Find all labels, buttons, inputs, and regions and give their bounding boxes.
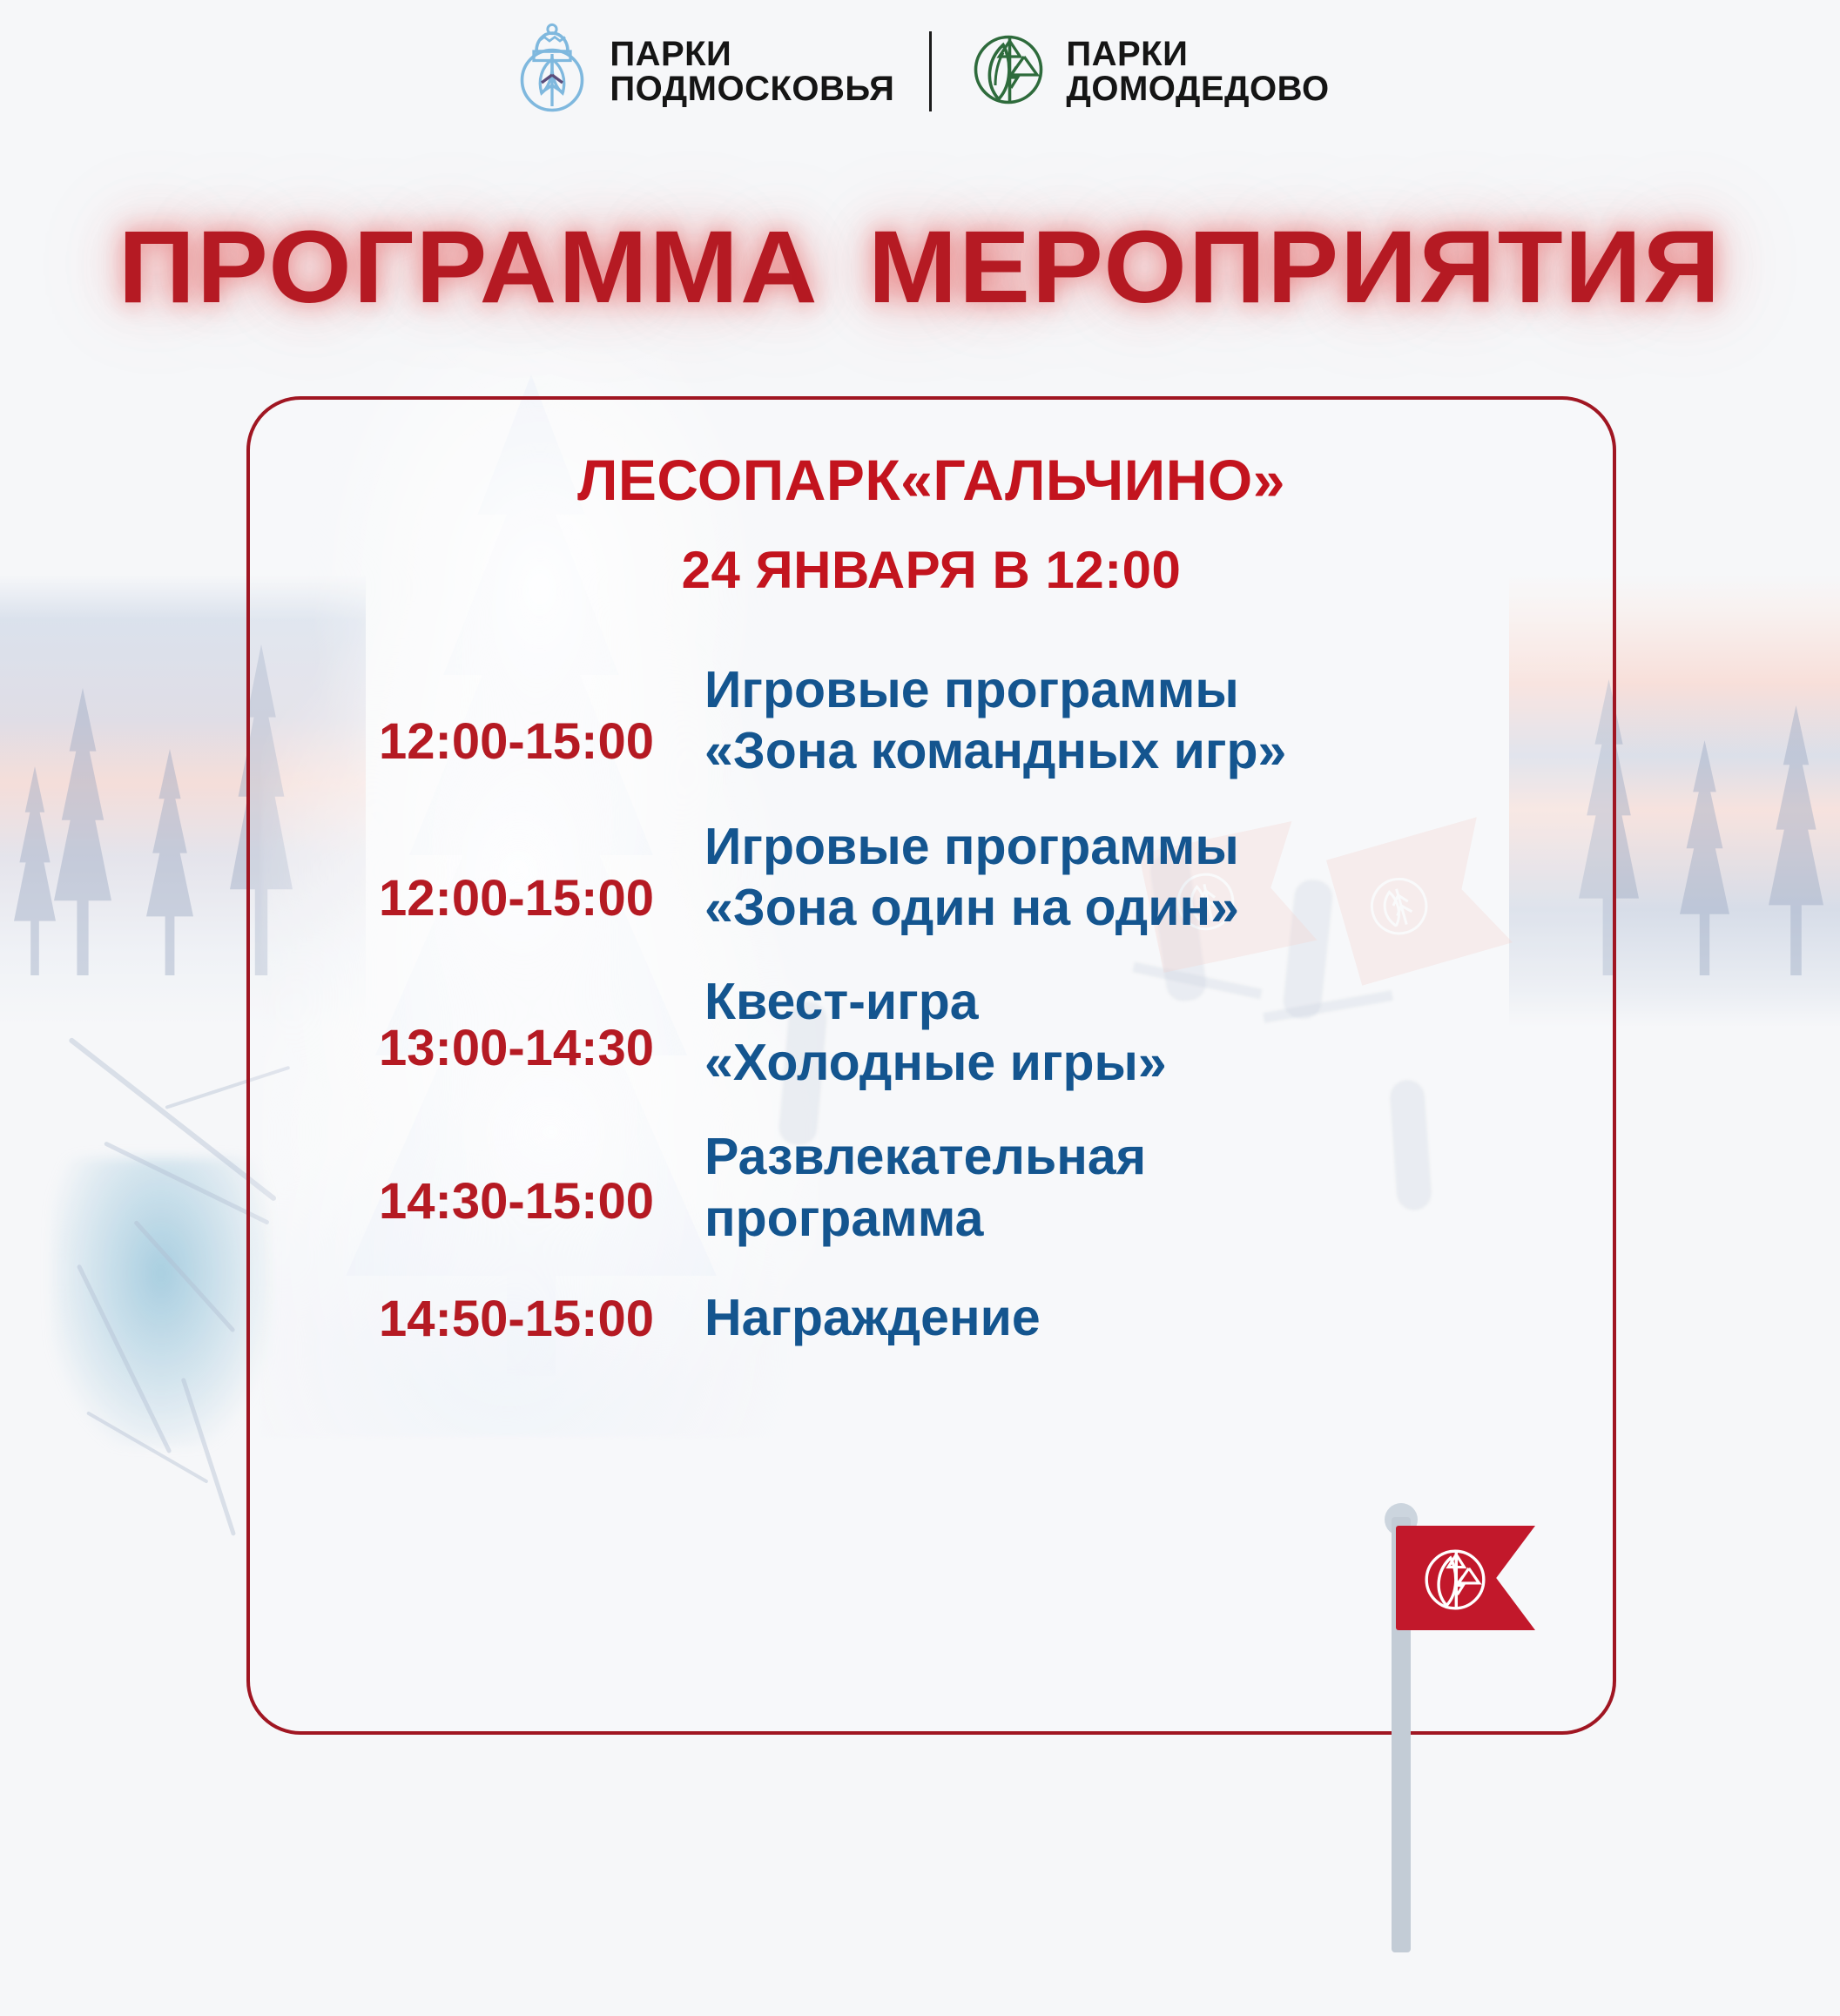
row-description: Развлекательная программа	[704, 1128, 1578, 1246]
row-time: 14:50-15:00	[269, 1289, 704, 1347]
row-description-line-1: Игровые программы	[704, 661, 1578, 718]
event-program-poster: ПАРКИ ПОДМОСКОВЬЯ ПАРКИ ДОМОДЕДОВО	[0, 0, 1840, 2016]
logo-line-1: ПАРКИ	[610, 37, 894, 71]
title-word-2: МЕРОПРИЯТИЯ	[868, 216, 1722, 319]
row-description-line-2: «Зона командных игр»	[704, 722, 1578, 779]
logo-line-1: ПАРКИ	[1066, 37, 1329, 71]
row-description-line-1: Награждение	[704, 1289, 1578, 1346]
conifer-silhouette	[131, 749, 209, 975]
schedule-row: 12:00-15:00 Игровые программы «Зона кома…	[269, 661, 1578, 779]
red-pennant-flag-icon	[1345, 1472, 1537, 1959]
park-emblem-icon	[1419, 1543, 1492, 1621]
park-leaf-arrow-circle-icon	[967, 28, 1050, 116]
brand-logos: ПАРКИ ПОДМОСКОВЬЯ ПАРКИ ДОМОДЕДОВО	[0, 19, 1840, 124]
logo-line-2: ПОДМОСКОВЬЯ	[610, 71, 894, 106]
row-description-line-1: Квест-игра	[704, 973, 1578, 1030]
logo-parki-domodedovo: ПАРКИ ДОМОДЕДОВО	[967, 28, 1329, 116]
schedule-row: 13:00-14:30 Квест-игра «Холодные игры»	[269, 973, 1578, 1091]
event-date: 24 ЯНВАРЯ В 12:00	[250, 540, 1613, 600]
row-time: 12:00-15:00	[269, 818, 704, 927]
row-time: 13:00-14:30	[269, 973, 704, 1076]
logo-text-podmoskovya: ПАРКИ ПОДМОСКОВЬЯ	[610, 37, 894, 106]
logo-line-2: ДОМОДЕДОВО	[1066, 71, 1329, 106]
park-leaf-hat-circle-icon	[510, 23, 594, 121]
row-description: Награждение	[704, 1289, 1578, 1346]
row-description: Квест-игра «Холодные игры»	[704, 973, 1578, 1091]
snow-mound	[52, 1158, 270, 1446]
schedule-row: 12:00-15:00 Игровые программы «Зона один…	[269, 818, 1578, 936]
schedule-list: 12:00-15:00 Игровые программы «Зона кома…	[250, 661, 1613, 1369]
row-description-line-2: «Холодные игры»	[704, 1034, 1578, 1091]
logo-parki-podmoskovya: ПАРКИ ПОДМОСКОВЬЯ	[510, 23, 894, 121]
schedule-row: 14:50-15:00 Награждение	[269, 1289, 1578, 1347]
row-description: Игровые программы «Зона командных игр»	[704, 661, 1578, 779]
conifer-silhouette	[1750, 705, 1840, 975]
page-title: ПРОГРАММАМЕРОПРИЯТИЯ	[0, 216, 1840, 319]
logo-divider	[929, 31, 932, 111]
card-header: ЛЕСОПАРК«ГАЛЬЧИНО» 24 ЯНВАРЯ В 12:00	[250, 450, 1613, 600]
row-description-line-2: программа	[704, 1190, 1578, 1247]
row-description: Игровые программы «Зона один на один»	[704, 818, 1578, 936]
conifer-silhouette	[1663, 740, 1746, 975]
row-time: 14:30-15:00	[269, 1128, 704, 1230]
conifer-silhouette	[35, 688, 131, 975]
row-description-line-1: Игровые программы	[704, 818, 1578, 875]
logo-text-domodedovo: ПАРКИ ДОМОДЕДОВО	[1066, 37, 1329, 106]
row-description-line-1: Развлекательная	[704, 1128, 1578, 1185]
venue-name: ЛЕСОПАРК«ГАЛЬЧИНО»	[250, 450, 1613, 510]
schedule-row: 14:30-15:00 Развлекательная программа	[269, 1128, 1578, 1246]
title-word-1: ПРОГРАММА	[118, 216, 819, 319]
conifer-silhouette	[0, 766, 70, 975]
row-description-line-2: «Зона один на один»	[704, 879, 1578, 936]
row-time: 12:00-15:00	[269, 661, 704, 770]
